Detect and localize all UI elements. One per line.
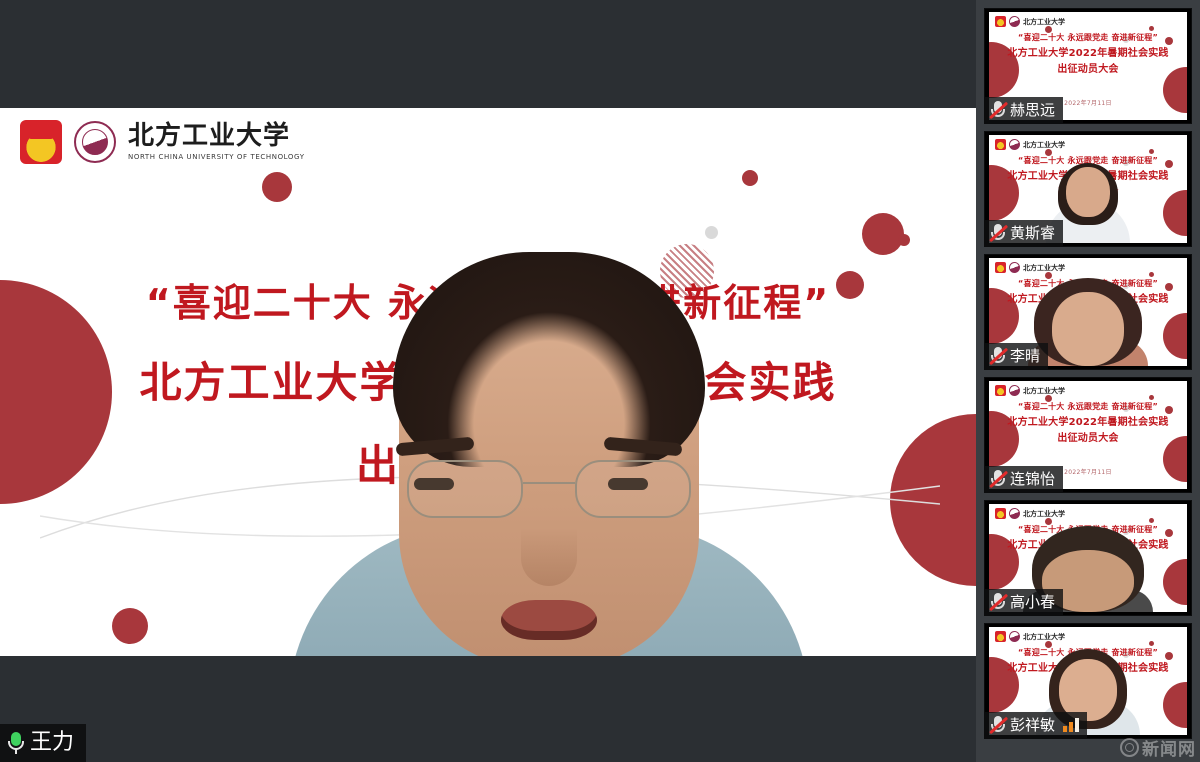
volume-bars-icon — [1063, 718, 1079, 732]
thumbnail-slide-line1: “喜迎二十大 永远跟党走 奋进新征程” — [1018, 34, 1158, 43]
microphone-muted-icon — [989, 715, 1007, 735]
participant-thumbnail[interactable]: 北方工业大学 “喜迎二十大 永远跟党走 奋进新征程” 北方工业大学2022年暑期… — [984, 254, 1192, 370]
participant-name: 彭祥敏 — [1010, 718, 1055, 733]
microphone-muted-icon — [989, 100, 1007, 120]
participant-name-tag: 李晴 — [985, 343, 1048, 369]
active-speaker-video — [286, 228, 812, 656]
university-seal-icon — [1009, 16, 1020, 27]
participant-thumbnail[interactable]: 北方工业大学 “喜迎二十大 永远跟党走 奋进新征程” 北方工业大学2022年暑期… — [984, 500, 1192, 616]
participant-name-tag: 连锦怡 — [985, 466, 1063, 492]
microphone-muted-icon — [989, 346, 1007, 366]
participant-name-tag: 高小春 — [985, 589, 1063, 615]
letterbox-bottom — [0, 656, 976, 762]
shared-presentation-slide: 北方工业大学 NORTH CHINA UNIVERSITY OF TECHNOL… — [0, 108, 976, 656]
university-seal-icon — [1009, 385, 1020, 396]
participant-thumbnail-sidebar[interactable]: 北方工业大学 “喜迎二十大 永远跟党走 奋进新征程” 北方工业大学2022年暑期… — [976, 0, 1200, 762]
thumbnail-slide-line3: 出征动员大会 — [1057, 64, 1118, 75]
thumbnail-university-name: 北方工业大学 — [1023, 17, 1065, 27]
participant-thumbnail[interactable]: 北方工业大学 “喜迎二十大 永远跟党走 奋进新征程” 北方工业大学2022年暑期… — [984, 8, 1192, 124]
active-speaker-name-tag: 王力 — [0, 724, 86, 762]
thumbnail-slide-line2: 北方工业大学2022年暑期社会实践 — [1007, 48, 1168, 59]
thumbnail-slide-date: 2022年7月11日 — [1064, 98, 1112, 107]
microphone-on-icon — [6, 732, 26, 754]
microphone-muted-icon — [989, 223, 1007, 243]
thumbnail-slide-line1: “喜迎二十大 永远跟党走 奋进新征程” — [1018, 403, 1158, 412]
thumbnail-logo-row: 北方工业大学 — [995, 16, 1065, 27]
letterbox-top — [0, 0, 976, 108]
thumbnail-logo-row: 北方工业大学 — [995, 385, 1065, 396]
participant-name-tag: 赫思远 — [985, 97, 1063, 123]
video-conference-app: 北方工业大学 NORTH CHINA UNIVERSITY OF TECHNOL… — [0, 0, 1200, 762]
main-video-stage[interactable]: 北方工业大学 NORTH CHINA UNIVERSITY OF TECHNOL… — [0, 0, 976, 762]
participant-thumbnail[interactable]: 北方工业大学 “喜迎二十大 永远跟党走 奋进新征程” 北方工业大学2022年暑期… — [984, 623, 1192, 739]
active-speaker-name: 王力 — [30, 732, 74, 754]
participant-name: 高小春 — [1010, 595, 1055, 610]
thumbnail-slide-line2: 北方工业大学2022年暑期社会实践 — [1007, 417, 1168, 428]
participant-name: 连锦怡 — [1010, 472, 1055, 487]
participant-name: 黄斯睿 — [1010, 226, 1055, 241]
thumbnail-university-name: 北方工业大学 — [1023, 386, 1065, 396]
microphone-muted-icon — [989, 592, 1007, 612]
communist-youth-league-emblem-icon — [995, 385, 1006, 396]
thumbnail-slide-date: 2022年7月11日 — [1064, 467, 1112, 476]
participant-name-tag: 彭祥敏 — [985, 712, 1087, 738]
thumbnail-slide-line3: 出征动员大会 — [1057, 433, 1118, 444]
microphone-muted-icon — [989, 469, 1007, 489]
participant-thumbnail[interactable]: 北方工业大学 “喜迎二十大 永远跟党走 奋进新征程” 北方工业大学2022年暑期… — [984, 377, 1192, 493]
participant-name: 赫思远 — [1010, 103, 1055, 118]
participant-name-tag: 黄斯睿 — [985, 220, 1063, 246]
participant-name: 李晴 — [1010, 349, 1040, 364]
speaker-glasses — [407, 460, 691, 522]
participant-thumbnail[interactable]: 北方工业大学 “喜迎二十大 永远跟党走 奋进新征程” 北方工业大学2022年暑期… — [984, 131, 1192, 247]
communist-youth-league-emblem-icon — [995, 16, 1006, 27]
